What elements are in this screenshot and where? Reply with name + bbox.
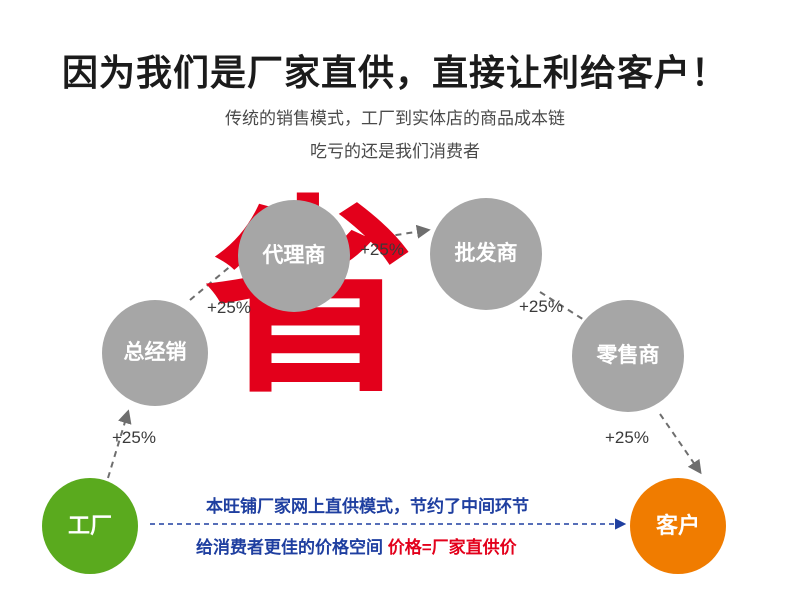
direct-mode-price-highlight: 价格=厂家直供价 [388,538,517,557]
node-customer[interactable]: 客户 [630,478,726,574]
subtitle-line-2: 吃亏的还是我们消费者 [0,137,790,162]
arrow-retail-to-customer [660,414,700,472]
direct-mode-line-2: 给消费者更佳的价格空间 价格=厂家直供价 [196,533,517,558]
markup-label-agent-wholesale: +25% [360,240,404,260]
direct-mode-line-1: 本旺铺厂家网上直供模式，节约了中间环节 [206,492,529,517]
node-wholesaler[interactable]: 批发商 [430,198,542,310]
node-general-distributor[interactable]: 总经销 [102,300,208,406]
subtitle-line-1: 传统的销售模式，工厂到实体店的商品成本链 [0,104,790,129]
markup-label-retail-customer: +25% [605,428,649,448]
direct-mode-line-2-prefix: 给消费者更佳的价格空间 [196,538,388,557]
markup-label-wholesale-retail: +25% [519,297,563,317]
markup-label-factory-general: +25% [112,428,156,448]
markup-label-general-agent: +25% [207,298,251,318]
page-title: 因为我们是厂家直供，直接让利给客户！ [0,44,790,96]
infographic-canvas: 因为我们是厂家直供，直接让利给客户！ 传统的销售模式，工厂到实体店的商品成本链 … [0,0,790,604]
node-agent[interactable]: 代理商 [238,200,350,312]
node-factory[interactable]: 工厂 [42,478,138,574]
node-retailer[interactable]: 零售商 [572,300,684,412]
